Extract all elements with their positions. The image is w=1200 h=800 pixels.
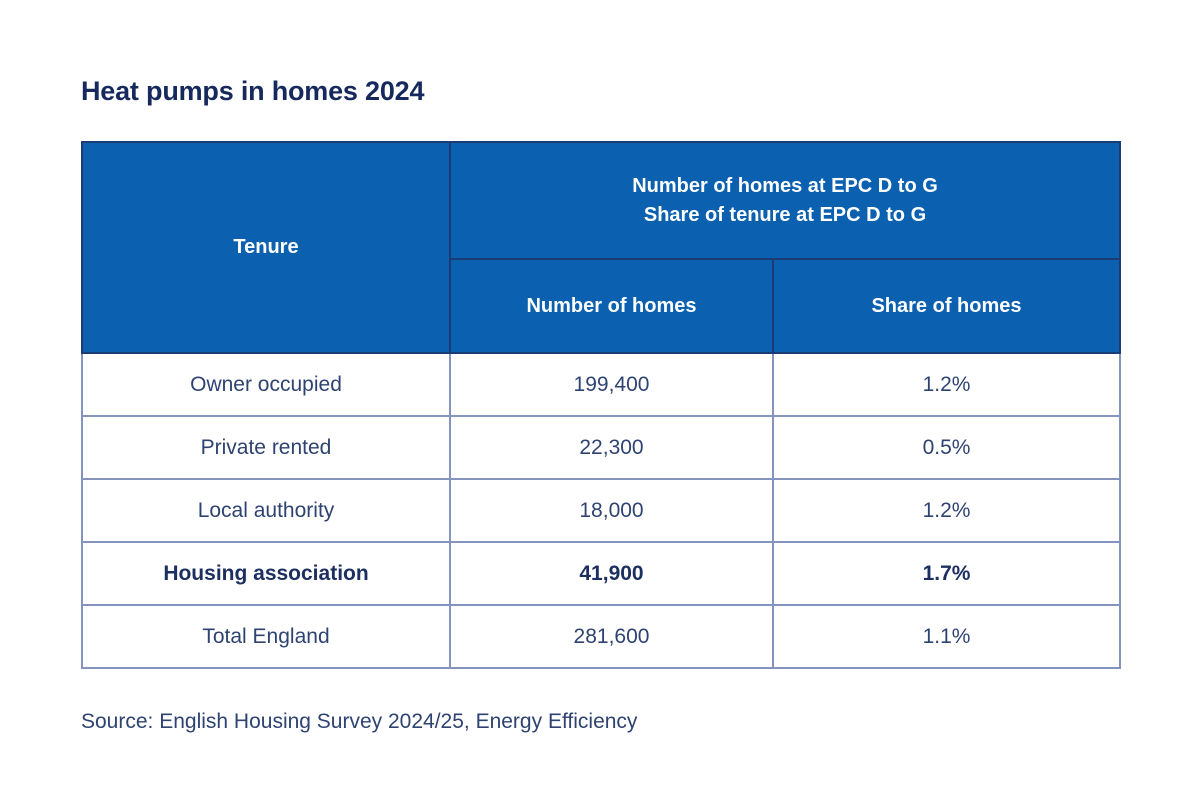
cell-number: 22,300	[450, 416, 773, 479]
column-header-group-line-1: Number of homes at EPC D to G	[451, 172, 1119, 201]
cell-tenure: Total England	[82, 605, 450, 668]
heat-pumps-table: Tenure Number of homes at EPC D to G Sha…	[81, 141, 1121, 669]
source-note: Source: English Housing Survey 2024/25, …	[81, 710, 637, 734]
cell-tenure: Local authority	[82, 479, 450, 542]
cell-tenure: Owner occupied	[82, 353, 450, 416]
table-row: Private rented 22,300 0.5%	[82, 416, 1120, 479]
column-header-tenure: Tenure	[82, 142, 450, 353]
table-row: Owner occupied 199,400 1.2%	[82, 353, 1120, 416]
cell-share: 0.5%	[773, 416, 1120, 479]
table-header-row-group: Tenure Number of homes at EPC D to G Sha…	[82, 142, 1120, 259]
cell-number: 18,000	[450, 479, 773, 542]
table-row: Local authority 18,000 1.2%	[82, 479, 1120, 542]
column-header-share-of-homes: Share of homes	[773, 259, 1120, 353]
cell-share: 1.2%	[773, 353, 1120, 416]
table-row-total: Total England 281,600 1.1%	[82, 605, 1120, 668]
cell-share: 1.7%	[773, 542, 1120, 605]
cell-tenure: Private rented	[82, 416, 450, 479]
table-body: Owner occupied 199,400 1.2% Private rent…	[82, 353, 1120, 668]
column-header-number-of-homes: Number of homes	[450, 259, 773, 353]
page-root: Heat pumps in homes 2024 Tenure Number o…	[0, 0, 1200, 800]
cell-tenure: Housing association	[82, 542, 450, 605]
cell-number: 281,600	[450, 605, 773, 668]
table-header: Tenure Number of homes at EPC D to G Sha…	[82, 142, 1120, 353]
cell-number: 41,900	[450, 542, 773, 605]
table-row-highlighted: Housing association 41,900 1.7%	[82, 542, 1120, 605]
column-header-group-line-2: Share of tenure at EPC D to G	[451, 201, 1119, 230]
page-title: Heat pumps in homes 2024	[81, 76, 424, 107]
table-container: Tenure Number of homes at EPC D to G Sha…	[81, 141, 1119, 669]
cell-number: 199,400	[450, 353, 773, 416]
cell-share: 1.1%	[773, 605, 1120, 668]
cell-share: 1.2%	[773, 479, 1120, 542]
column-header-group: Number of homes at EPC D to G Share of t…	[450, 142, 1120, 259]
